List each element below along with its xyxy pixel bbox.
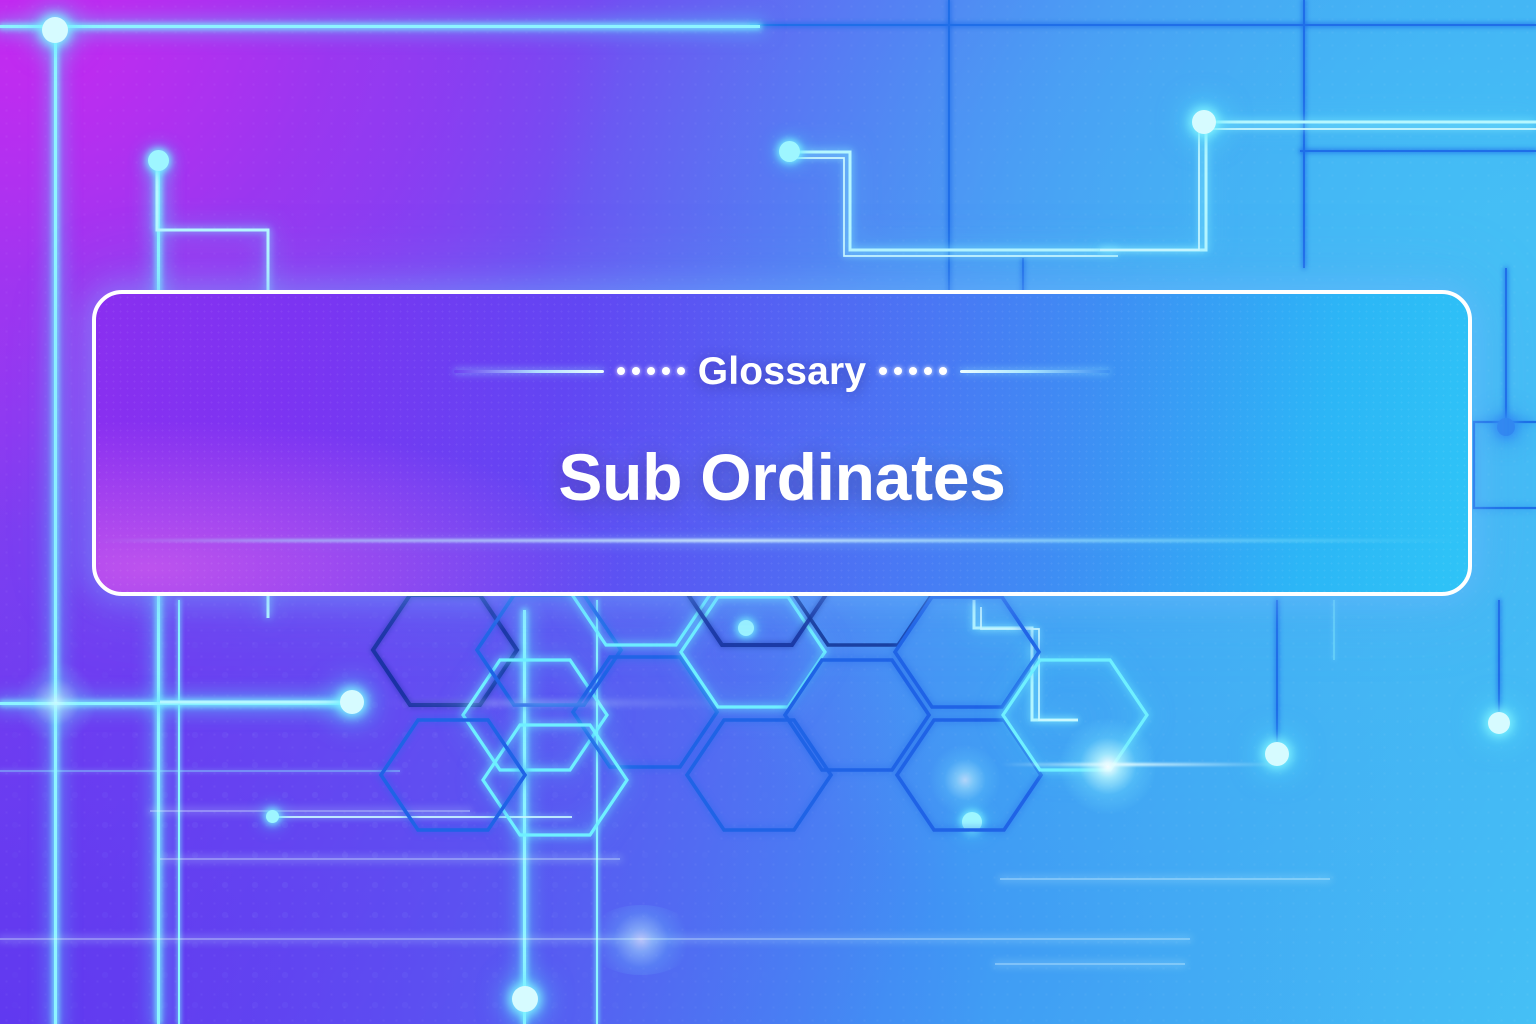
circuit-trace-hexright (968, 600, 1078, 760)
circuit-node-bottomleft (340, 690, 364, 714)
circuit-hline-top-1 (750, 24, 1536, 26)
dot (879, 367, 887, 375)
eyebrow-row: Glossary (96, 342, 1468, 400)
circuit-trace-topright (1100, 120, 1536, 252)
dot (662, 367, 670, 375)
eyebrow-line-right (960, 370, 1110, 373)
circuit-node-dotline (266, 810, 279, 823)
circuit-vline-right-1 (948, 0, 950, 308)
circuit-vline-right-7 (1333, 600, 1335, 660)
banner-canvas: Glossary Sub Ordinates (0, 0, 1536, 1024)
circuit-vline-right-4 (1505, 268, 1507, 425)
streak-hex-left (380, 700, 740, 706)
circuit-trace-topmid (788, 150, 1118, 270)
circuit-node-hex-lower (962, 812, 982, 832)
card-underglow-blur (96, 537, 1468, 546)
circuit-hline-mid-left-2 (0, 770, 400, 772)
circuit-hline-bot-5 (995, 963, 1185, 965)
eyebrow-dots-right (879, 367, 947, 375)
circuit-node-topright (1192, 110, 1216, 134)
circuit-node-hex-glow (738, 620, 754, 636)
circuit-node-farright (1497, 418, 1515, 436)
dot (894, 367, 902, 375)
circuit-node-topleft (42, 17, 68, 43)
circuit-vline-right-3 (1303, 0, 1305, 268)
circuit-node-topmid (779, 141, 800, 162)
card-underglow-line (96, 539, 1468, 542)
circuit-vline-right-6 (1498, 600, 1500, 720)
circuit-hline-bot-1 (150, 810, 470, 812)
circuit-vline-left-1 (54, 28, 57, 1024)
circuit-trace-topright-2 (1100, 127, 1536, 259)
flare-hex-right (1060, 718, 1156, 814)
dot (632, 367, 640, 375)
circuit-hline-bot-3 (160, 858, 620, 860)
circuit-trace-bottomleft (160, 700, 360, 704)
eyebrow-dots-left (617, 367, 685, 375)
circuit-vline-left-4 (523, 610, 526, 1024)
eyebrow-label: Glossary (698, 352, 867, 391)
flare-left-cross (16, 662, 96, 742)
circuit-trace-hexright-2 (968, 607, 1078, 767)
streak-hex-right (1000, 763, 1280, 766)
dot (924, 367, 932, 375)
hexagon-honeycomb-pattern (355, 590, 1115, 890)
dot (647, 367, 655, 375)
circuit-hline-bot-2 (0, 938, 1190, 940)
dot (677, 367, 685, 375)
glossary-card: Glossary Sub Ordinates (92, 290, 1472, 596)
circuit-node-step-left (148, 150, 169, 171)
eyebrow-line-left (454, 370, 604, 373)
circuit-node-right-drop (1265, 742, 1289, 766)
circuit-hline-bot-4 (1000, 878, 1330, 880)
circuit-hline-top-2 (0, 25, 760, 28)
circuit-hline-top-3 (1300, 150, 1536, 152)
circuit-vline-left-3 (178, 600, 180, 1024)
circuit-vline-left-5 (596, 600, 598, 1024)
circuit-vline-right-5 (1276, 600, 1278, 750)
circuit-node-right-drop-2 (1488, 712, 1510, 734)
flare-hex-mid (930, 745, 1000, 815)
flare-bottom-rail (586, 905, 696, 975)
circuit-node-bottom-rail (512, 986, 538, 1012)
circuit-hline-mid-left (0, 702, 360, 705)
dot (909, 367, 917, 375)
circuit-trace-leftdot (272, 815, 572, 819)
dot (939, 367, 947, 375)
page-title: Sub Ordinates (96, 444, 1468, 510)
circuit-trace-topmid-2 (788, 156, 1118, 276)
dot (617, 367, 625, 375)
